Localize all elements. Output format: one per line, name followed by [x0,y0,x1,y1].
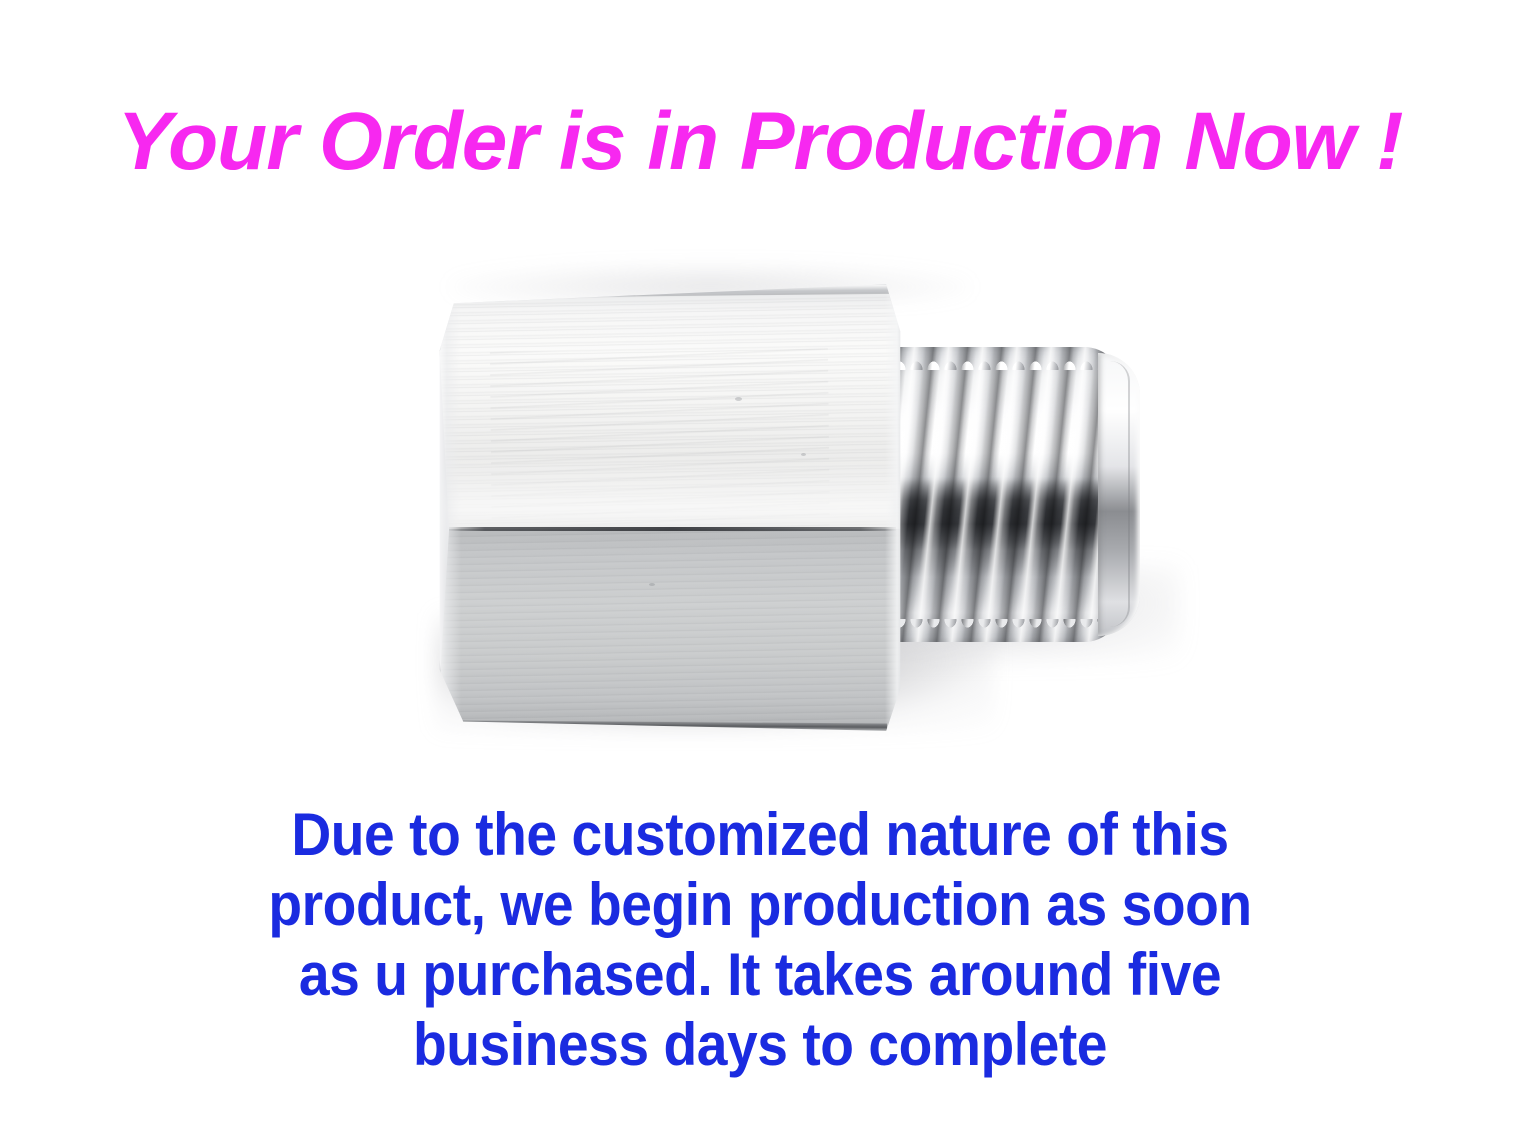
product-photo [380,235,1210,795]
note-line: business days to complete [61,1010,1459,1080]
page-title: Your Order is in Production Now ! [0,96,1520,188]
note-line: Due to the customized nature of this [61,800,1459,870]
promo-image-canvas: Your Order is in Production Now ! [0,0,1520,1140]
note-line: product, we begin production as soon [61,870,1459,940]
surface-blemish [801,453,806,456]
surface-blemish [735,397,742,401]
note-line: as u purchased. It takes around five [61,940,1459,1010]
hex-facet-ridge [449,527,896,531]
production-note: Due to the customized nature of this pro… [61,800,1459,1080]
surface-blemish [649,583,655,586]
hex-body [435,275,905,745]
thread-end-ring [1110,361,1130,627]
hex-brush-texture-lower [435,529,905,745]
